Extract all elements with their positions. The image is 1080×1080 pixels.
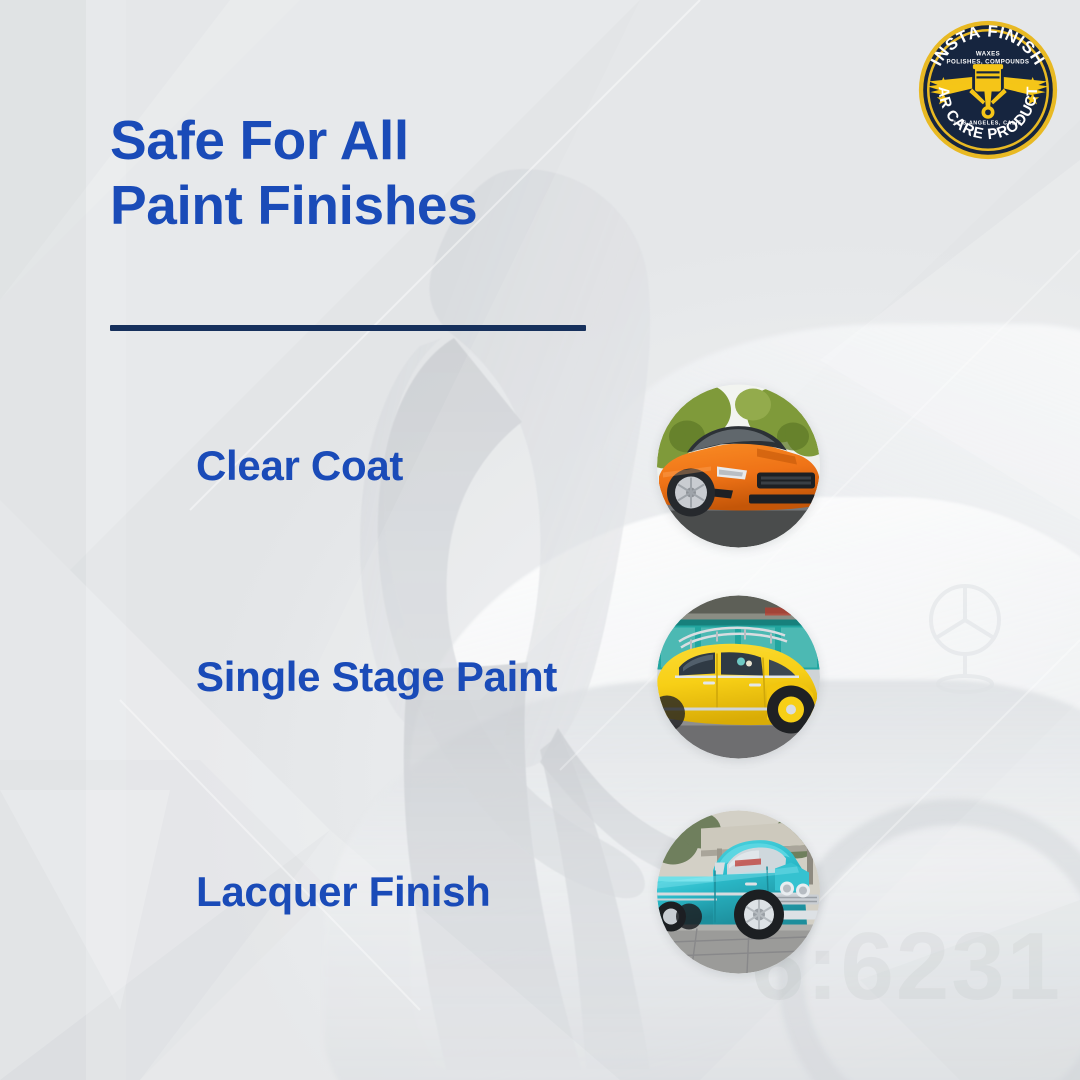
orange-mustang-photo [657, 385, 820, 548]
logo-sub-line-1: WAXES [976, 50, 1000, 57]
turquoise-pickup-photo [657, 811, 820, 974]
title-divider [110, 325, 586, 331]
feature-row-clear-coat: Clear Coat [0, 381, 1080, 551]
insta-finish-logo: INSTA FINISH WAXES POLISHES, COMPOUNDS [916, 18, 1060, 162]
yellow-beetle-photo [657, 596, 820, 759]
feature-label-single-stage: Single Stage Paint [196, 653, 557, 701]
page-title: Safe For All Paint Finishes [110, 108, 730, 238]
feature-row-lacquer: Lacquer Finish [0, 807, 1080, 977]
feature-label-clear-coat: Clear Coat [196, 442, 403, 490]
feature-row-single-stage: Single Stage Paint [0, 592, 1080, 762]
feature-label-lacquer: Lacquer Finish [196, 868, 491, 916]
poster-canvas: 6:6231 [0, 0, 1080, 1080]
